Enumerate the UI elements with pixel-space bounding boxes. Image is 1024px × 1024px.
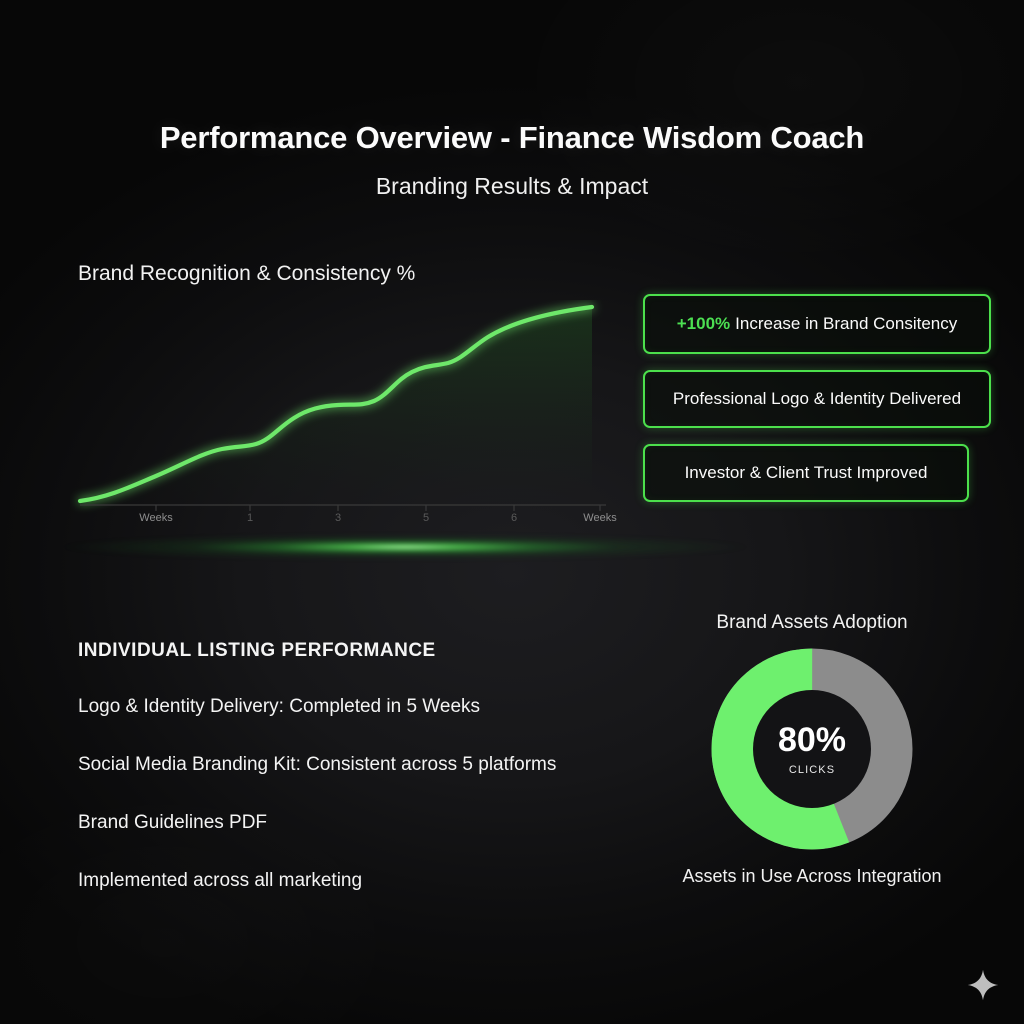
list-item: Logo & Identity Delivery: Completed in 5… <box>78 696 678 718</box>
callout-accent-value: +100% <box>677 314 730 334</box>
callout-brand-consistency[interactable]: +100% Increase in Brand Consitency <box>643 294 991 354</box>
callout-label: Professional Logo & Identity Delivered <box>673 389 961 409</box>
donut-sublabel: CLICKS <box>789 764 835 776</box>
infographic-page: Performance Overview - Finance Wisdom Co… <box>0 0 1024 1024</box>
line-chart-heading: Brand Recognition & Consistency % <box>78 262 415 286</box>
axis-tick-label-2: 3 <box>335 512 341 524</box>
donut-caption: Assets in Use Across Integration <box>662 866 962 887</box>
axis-tick-label-1: 1 <box>247 512 253 524</box>
axis-tick-label-5: Weeks <box>583 512 616 524</box>
callout-label: Investor & Client Trust Improved <box>685 463 928 483</box>
list-item: Brand Guidelines PDF <box>78 812 678 834</box>
donut-center-label: 80% CLICKS <box>753 690 871 808</box>
list-item: Social Media Branding Kit: Consistent ac… <box>78 754 678 776</box>
axis-tick-label-0: Weeks <box>139 512 172 524</box>
callout-investor-trust[interactable]: Investor & Client Trust Improved <box>643 444 969 502</box>
axis-tick-label-3: 5 <box>423 512 429 524</box>
line-chart-ticks <box>156 505 600 511</box>
brand-recognition-line-chart <box>70 300 630 515</box>
brand-assets-adoption-chart: Brand Assets Adoption 80% CLICKS Assets … <box>662 612 962 887</box>
page-title: Performance Overview - Finance Wisdom Co… <box>0 120 1024 156</box>
list-item: Implemented across all marketing <box>78 870 678 892</box>
sparkle-icon <box>966 968 1000 1002</box>
highlight-callouts: +100% Increase in Brand Consitency Profe… <box>643 294 991 502</box>
page-subtitle: Branding Results & Impact <box>0 173 1024 200</box>
donut-value: 80% <box>778 723 846 757</box>
callout-logo-identity[interactable]: Professional Logo & Identity Delivered <box>643 370 991 428</box>
callout-label: Increase in Brand Consitency <box>735 314 957 334</box>
header: Performance Overview - Finance Wisdom Co… <box>0 120 1024 200</box>
donut-chart-title: Brand Assets Adoption <box>662 612 962 634</box>
axis-tick-label-4: 6 <box>511 512 517 524</box>
chart-glow-divider <box>60 534 750 560</box>
individual-listing-performance: INDIVIDUAL LISTING PERFORMANCE Logo & Id… <box>78 640 678 892</box>
line-chart-axis-labels: Weeks 1 3 5 6 Weeks <box>70 512 630 532</box>
listing-section-title: INDIVIDUAL LISTING PERFORMANCE <box>78 640 678 662</box>
donut-graphic: 80% CLICKS <box>711 648 913 850</box>
